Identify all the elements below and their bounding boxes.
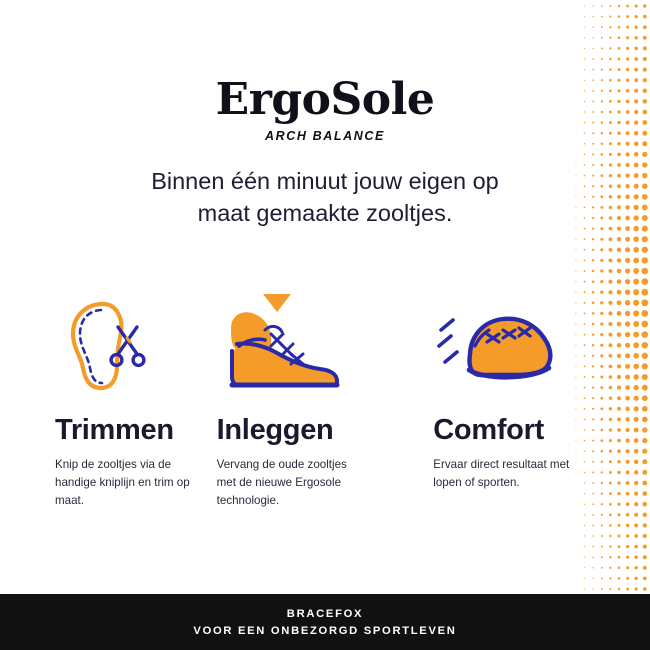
feature-title: Comfort: [433, 416, 642, 445]
insole-scissors-icon: [55, 290, 209, 402]
feature-body: Vervang de oude zooltjes met de nieuwe E…: [217, 456, 365, 510]
footer-brand: BRACEFOX: [287, 608, 363, 620]
headline-line-2: maat gemaakte zooltjes.: [60, 198, 590, 230]
feature-item: Inleggen Vervang de oude zooltjes met de…: [217, 290, 434, 510]
feature-title: Trimmen: [55, 416, 209, 445]
headline-line-1: Binnen één minuut jouw eigen op: [60, 166, 590, 198]
brand-name: ErgoSole: [0, 78, 650, 122]
feature-list: Trimmen Knip de zooltjes via de handige …: [0, 290, 650, 510]
running-shoe-icon: [433, 290, 642, 402]
feature-title: Inleggen: [217, 416, 426, 445]
feature-body: Knip de zooltjes via de handige kniplijn…: [55, 456, 203, 510]
feature-item: Comfort Ervaar direct resultaat met lope…: [433, 290, 650, 492]
brand-tagline: ARCH BALANCE: [0, 129, 650, 143]
sneaker-insert-icon: [217, 290, 426, 402]
brand-block: ErgoSole ARCH BALANCE: [0, 78, 650, 143]
footer-slogan: VOOR EEN ONBEZORGD SPORTLEVEN: [193, 625, 456, 637]
headline: Binnen één minuut jouw eigen op maat gem…: [60, 166, 590, 230]
feature-item: Trimmen Knip de zooltjes via de handige …: [0, 290, 217, 510]
poster-canvas: ErgoSole ARCH BALANCE Binnen één minuut …: [0, 0, 650, 650]
footer-bar: BRACEFOX VOOR EEN ONBEZORGD SPORTLEVEN: [0, 594, 650, 650]
feature-body: Ervaar direct resultaat met lopen of spo…: [433, 456, 581, 492]
